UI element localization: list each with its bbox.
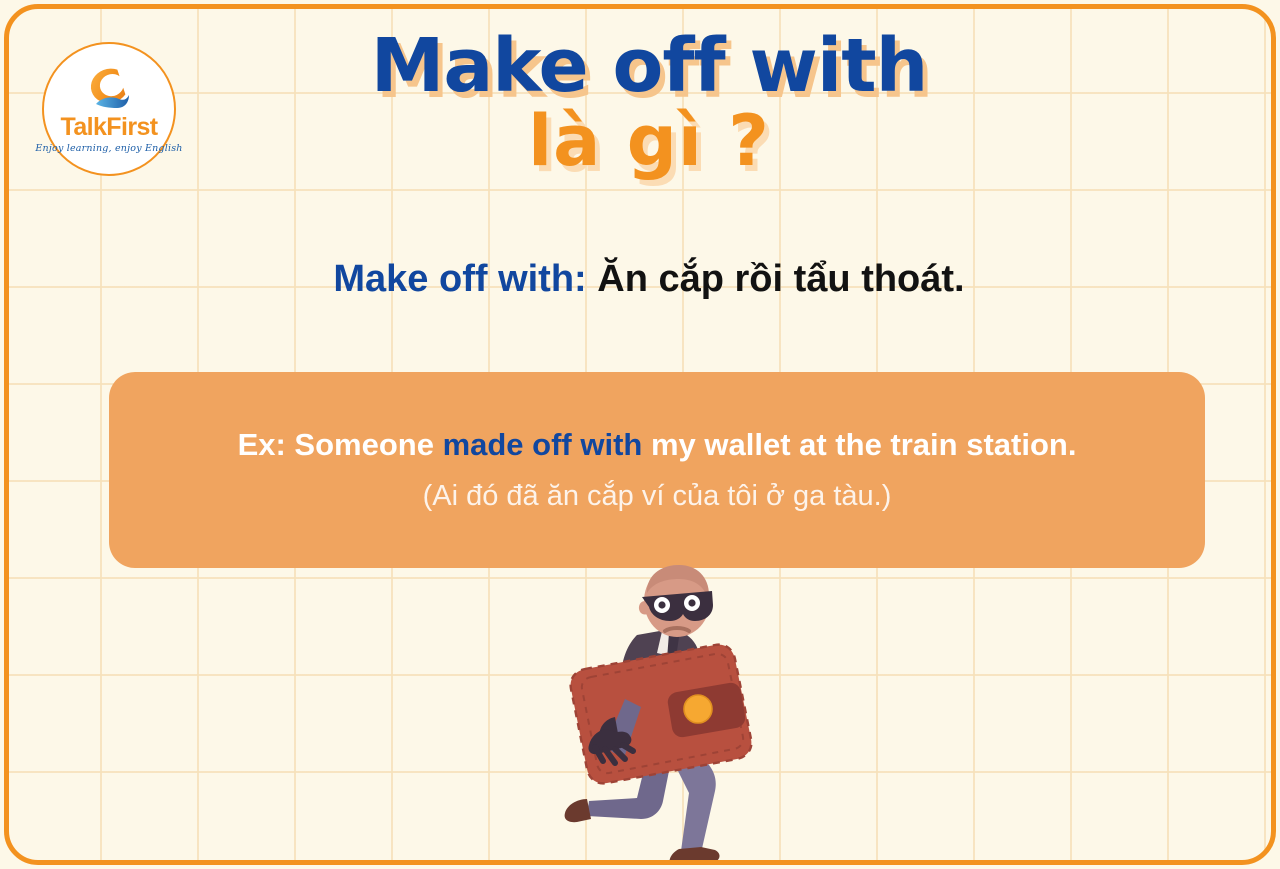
brand-tagline: Enjoy learning, enjoy English — [35, 143, 182, 154]
running-thief-with-wallet-illustration — [529, 561, 819, 865]
poster-frame: TalkFirst Enjoy learning, enjoy English … — [4, 4, 1276, 865]
page-title: Make off with là gì ? — [9, 27, 1276, 180]
giant-wallet — [571, 645, 752, 784]
example-sentence-translation: (Ai đó đã ăn cắp ví của tôi ở ga tàu.) — [423, 478, 892, 514]
brand-name-part2: First — [106, 113, 157, 141]
thief-head — [639, 565, 713, 637]
title-line-english: Make off with — [9, 27, 1276, 107]
example-prefix: Ex: Someone — [238, 427, 443, 462]
brand-name-part1: Talk — [61, 113, 107, 141]
example-highlight-phrase: made off with — [443, 427, 643, 462]
definition-term: Make off with: — [333, 258, 586, 300]
definition-line: Make off with: Ăn cắp rồi tẩu thoát. — [9, 257, 1276, 303]
example-sentence-english: Ex: Someone made off with my wallet at t… — [238, 426, 1077, 465]
brand-logo-badge: TalkFirst Enjoy learning, enjoy English — [42, 42, 176, 176]
infographic-poster: TalkFirst Enjoy learning, enjoy English … — [0, 0, 1280, 869]
speech-bubble-swoosh-logo-icon — [78, 64, 140, 114]
title-line-vietnamese: là gì ? — [9, 103, 1276, 180]
brand-name: TalkFirst — [61, 115, 158, 140]
example-box: Ex: Someone made off with my wallet at t… — [109, 372, 1205, 568]
definition-meaning: Ăn cắp rồi tẩu thoát. — [597, 258, 964, 300]
example-suffix: my wallet at the train station. — [642, 427, 1076, 462]
